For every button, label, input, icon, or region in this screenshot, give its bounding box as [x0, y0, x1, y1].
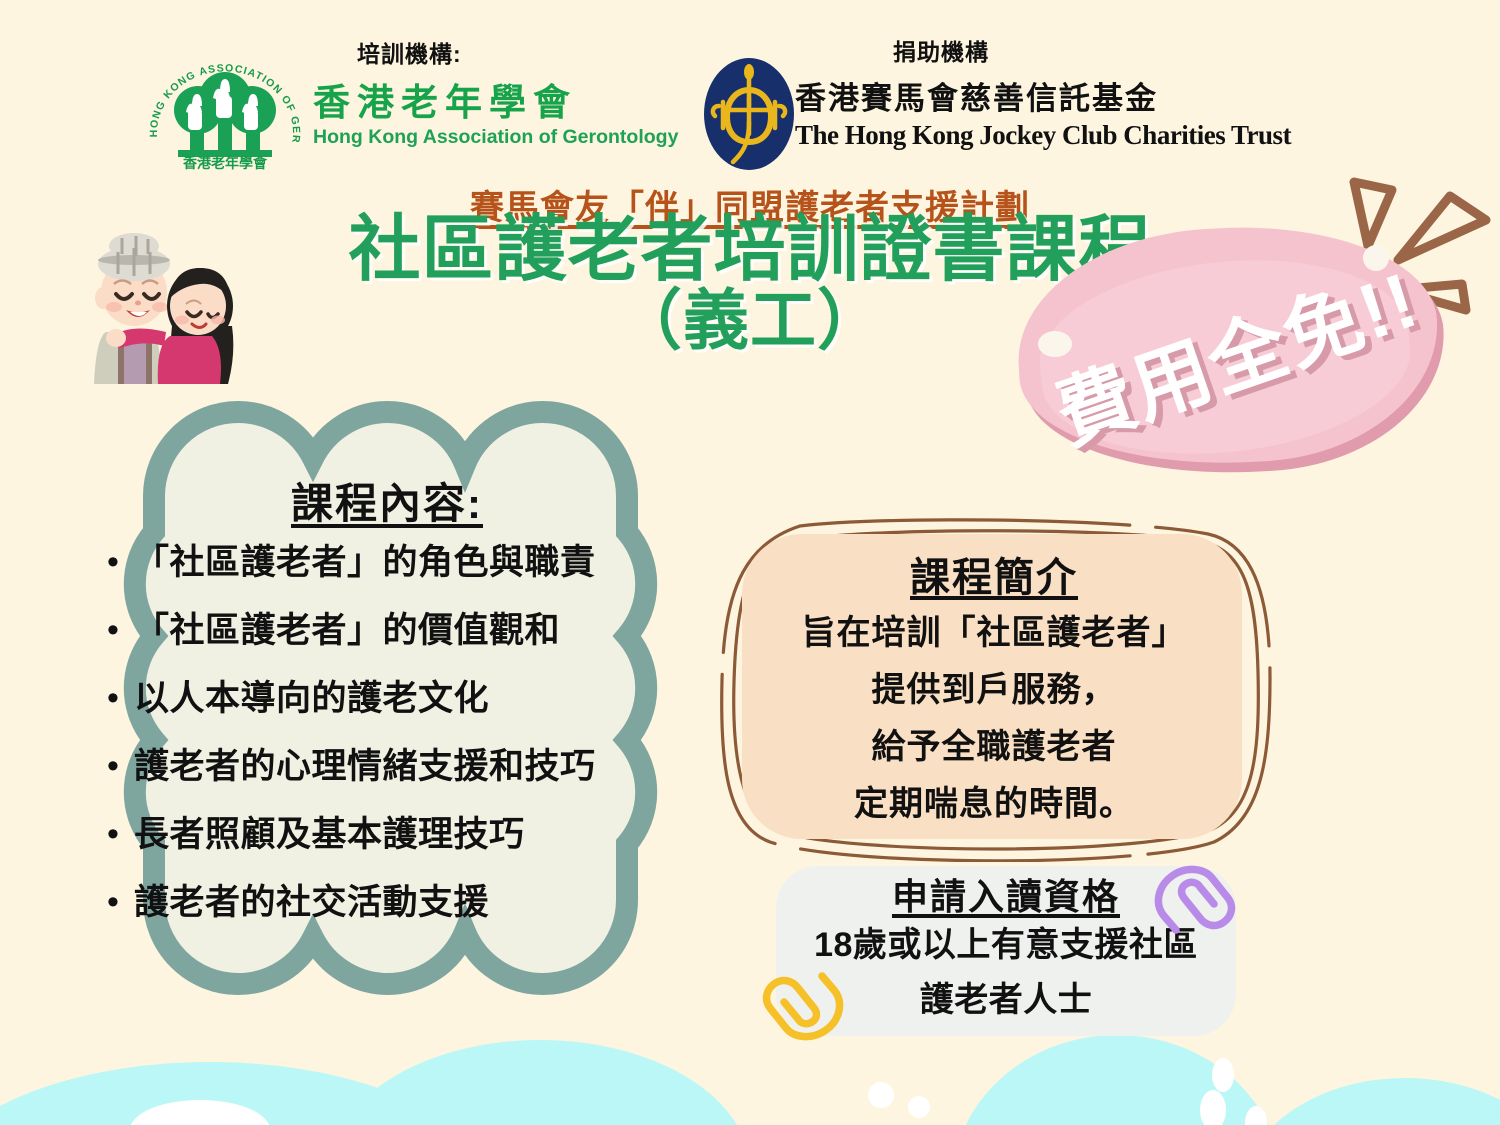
- cloud-highlight-d: [1212, 1058, 1234, 1092]
- course-intro-text: 旨在培訓「社區護老者」 提供到戶服務， 給予全職護老者 定期喘息的時間。: [714, 605, 1274, 833]
- header-bar: HONG KONG ASSOCIATION OF GERONTOLOGY: [0, 0, 1500, 180]
- course-intro-heading: 課程簡介: [714, 545, 1274, 603]
- list-item-label: 長者照顧及基本護理技巧: [134, 812, 525, 858]
- list-item-label: 護老者的心理情緒支援和技巧: [134, 744, 596, 790]
- hkjc-name-en: The Hong Kong Jockey Club Charities Trus…: [795, 120, 1291, 151]
- list-item: • 長者照顧及基本護理技巧: [92, 812, 692, 858]
- list-item-label: 以人本導向的護老文化: [134, 676, 489, 722]
- hkag-logo-icon: HONG KONG ASSOCIATION OF GERONTOLOGY: [140, 46, 310, 171]
- bullet-marker-icon: •: [92, 608, 134, 652]
- list-item: • 護老者的社交活動支援: [92, 880, 692, 926]
- bullet-marker-icon: •: [92, 812, 134, 856]
- hkag-name-en: Hong Kong Association of Gerontology: [313, 126, 678, 149]
- elderly-and-caregiver-illustration-icon: [48, 214, 258, 384]
- list-item-label: 「社區護老者」的角色與職責: [134, 540, 596, 586]
- list-item: • 以人本導向的護老文化: [92, 676, 692, 722]
- list-item: • 「社區護老者」的價值觀和: [92, 608, 692, 654]
- poster-canvas: HONG KONG ASSOCIATION OF GERONTOLOGY: [0, 0, 1500, 1125]
- course-intro-line: 旨在培訓「社區護老者」: [714, 605, 1274, 662]
- list-item-label: 護老者的社交活動支援: [134, 880, 489, 926]
- bullet-marker-icon: •: [92, 676, 134, 720]
- hkjc-name-zh: 香港賽馬會慈善信託基金: [795, 82, 1158, 116]
- cloud-highlight-c: [1245, 1106, 1267, 1125]
- cloud-highlight-e: [868, 1082, 894, 1108]
- cloud-shape-far-right: [1240, 1078, 1500, 1125]
- bullet-marker-icon: •: [92, 540, 134, 584]
- funder-label: 捐助機構: [893, 33, 989, 67]
- page-title-line1: 社區護老者培訓證書課程: [348, 210, 1151, 290]
- paperclip-purple-icon: [1152, 856, 1240, 940]
- training-org-label: 培訓機構:: [357, 35, 462, 69]
- course-intro-line: 定期喘息的時間。: [714, 776, 1274, 833]
- course-content-list: • 「社區護老者」的角色與職責 • 「社區護老者」的價值觀和 • 以人本導向的護…: [92, 540, 692, 948]
- cloud-highlight-f: [908, 1096, 930, 1118]
- course-intro-line: 提供到戶服務，: [714, 662, 1274, 719]
- hkjc-logo-icon: [697, 54, 801, 174]
- list-item: • 「社區護老者」的角色與職責: [92, 540, 692, 586]
- list-item-label: 「社區護老者」的價值觀和: [134, 608, 560, 654]
- hkag-name-zh: 香港老年學會: [313, 83, 577, 124]
- cloud-highlight-b: [1200, 1090, 1226, 1125]
- course-intro-line: 給予全職護老者: [714, 719, 1274, 776]
- list-item: • 護老者的心理情緒支援和技巧: [92, 744, 692, 790]
- bullet-marker-icon: •: [92, 744, 134, 788]
- cloud-shape-mid: [330, 1040, 750, 1125]
- hkag-mark-zh-text: 香港老年學會: [182, 155, 268, 171]
- paperclip-yellow-icon: [760, 964, 848, 1048]
- course-content-heading: 課程內容:: [62, 470, 712, 531]
- bullet-marker-icon: •: [92, 880, 134, 924]
